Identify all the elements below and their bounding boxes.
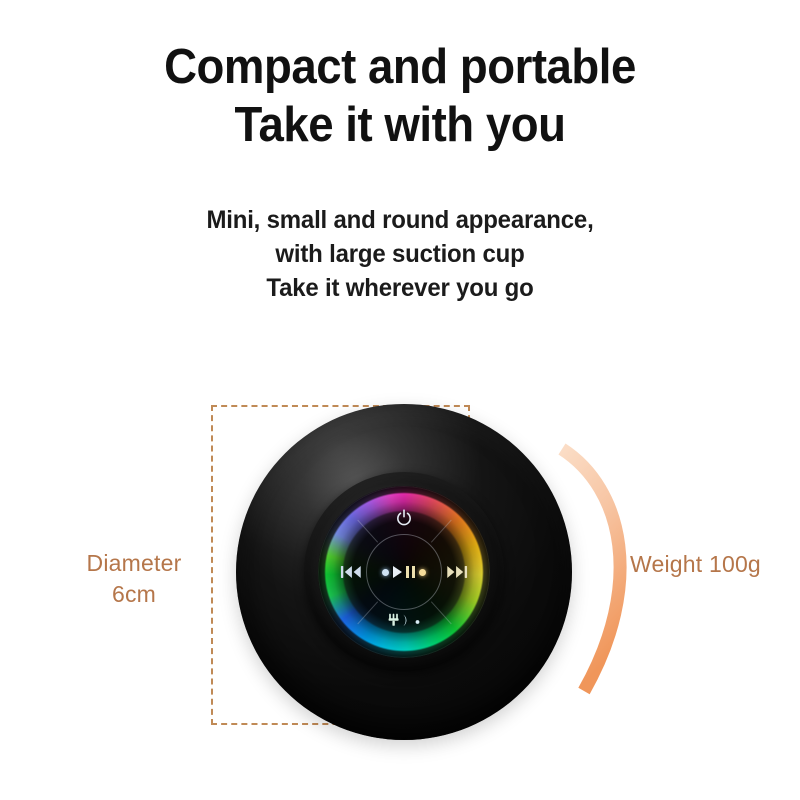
headline-line-1: Compact and portable — [28, 38, 772, 96]
diameter-value-text: 6cm — [60, 579, 208, 610]
indicator-dot-amber — [419, 569, 426, 576]
previous-track-icon[interactable] — [340, 562, 362, 582]
light-mode-icon[interactable] — [380, 610, 428, 630]
headline-line-2: Take it with you — [28, 96, 772, 154]
indicator-dot-blue — [382, 569, 389, 576]
subtitle-line-2: with large suction cup — [16, 237, 784, 271]
weight-annotation: Weight 100g — [630, 549, 761, 579]
subtitle-line-1: Mini, small and round appearance, — [16, 203, 784, 237]
subtitle-line-3: Take it wherever you go — [16, 271, 784, 305]
play-icon[interactable] — [393, 566, 402, 578]
diameter-label-text: Diameter — [60, 548, 208, 579]
control-panel[interactable] — [318, 486, 490, 658]
next-track-icon[interactable] — [446, 562, 468, 582]
page-title: Compact and portable Take it with you — [28, 38, 772, 154]
power-icon[interactable] — [394, 508, 414, 528]
diameter-annotation: Diameter 6cm — [60, 548, 208, 610]
play-pause-control[interactable] — [374, 564, 434, 580]
speaker-product-image — [236, 404, 572, 740]
subtitle-block: Mini, small and round appearance, with l… — [16, 203, 784, 305]
pause-icon[interactable] — [406, 566, 415, 578]
